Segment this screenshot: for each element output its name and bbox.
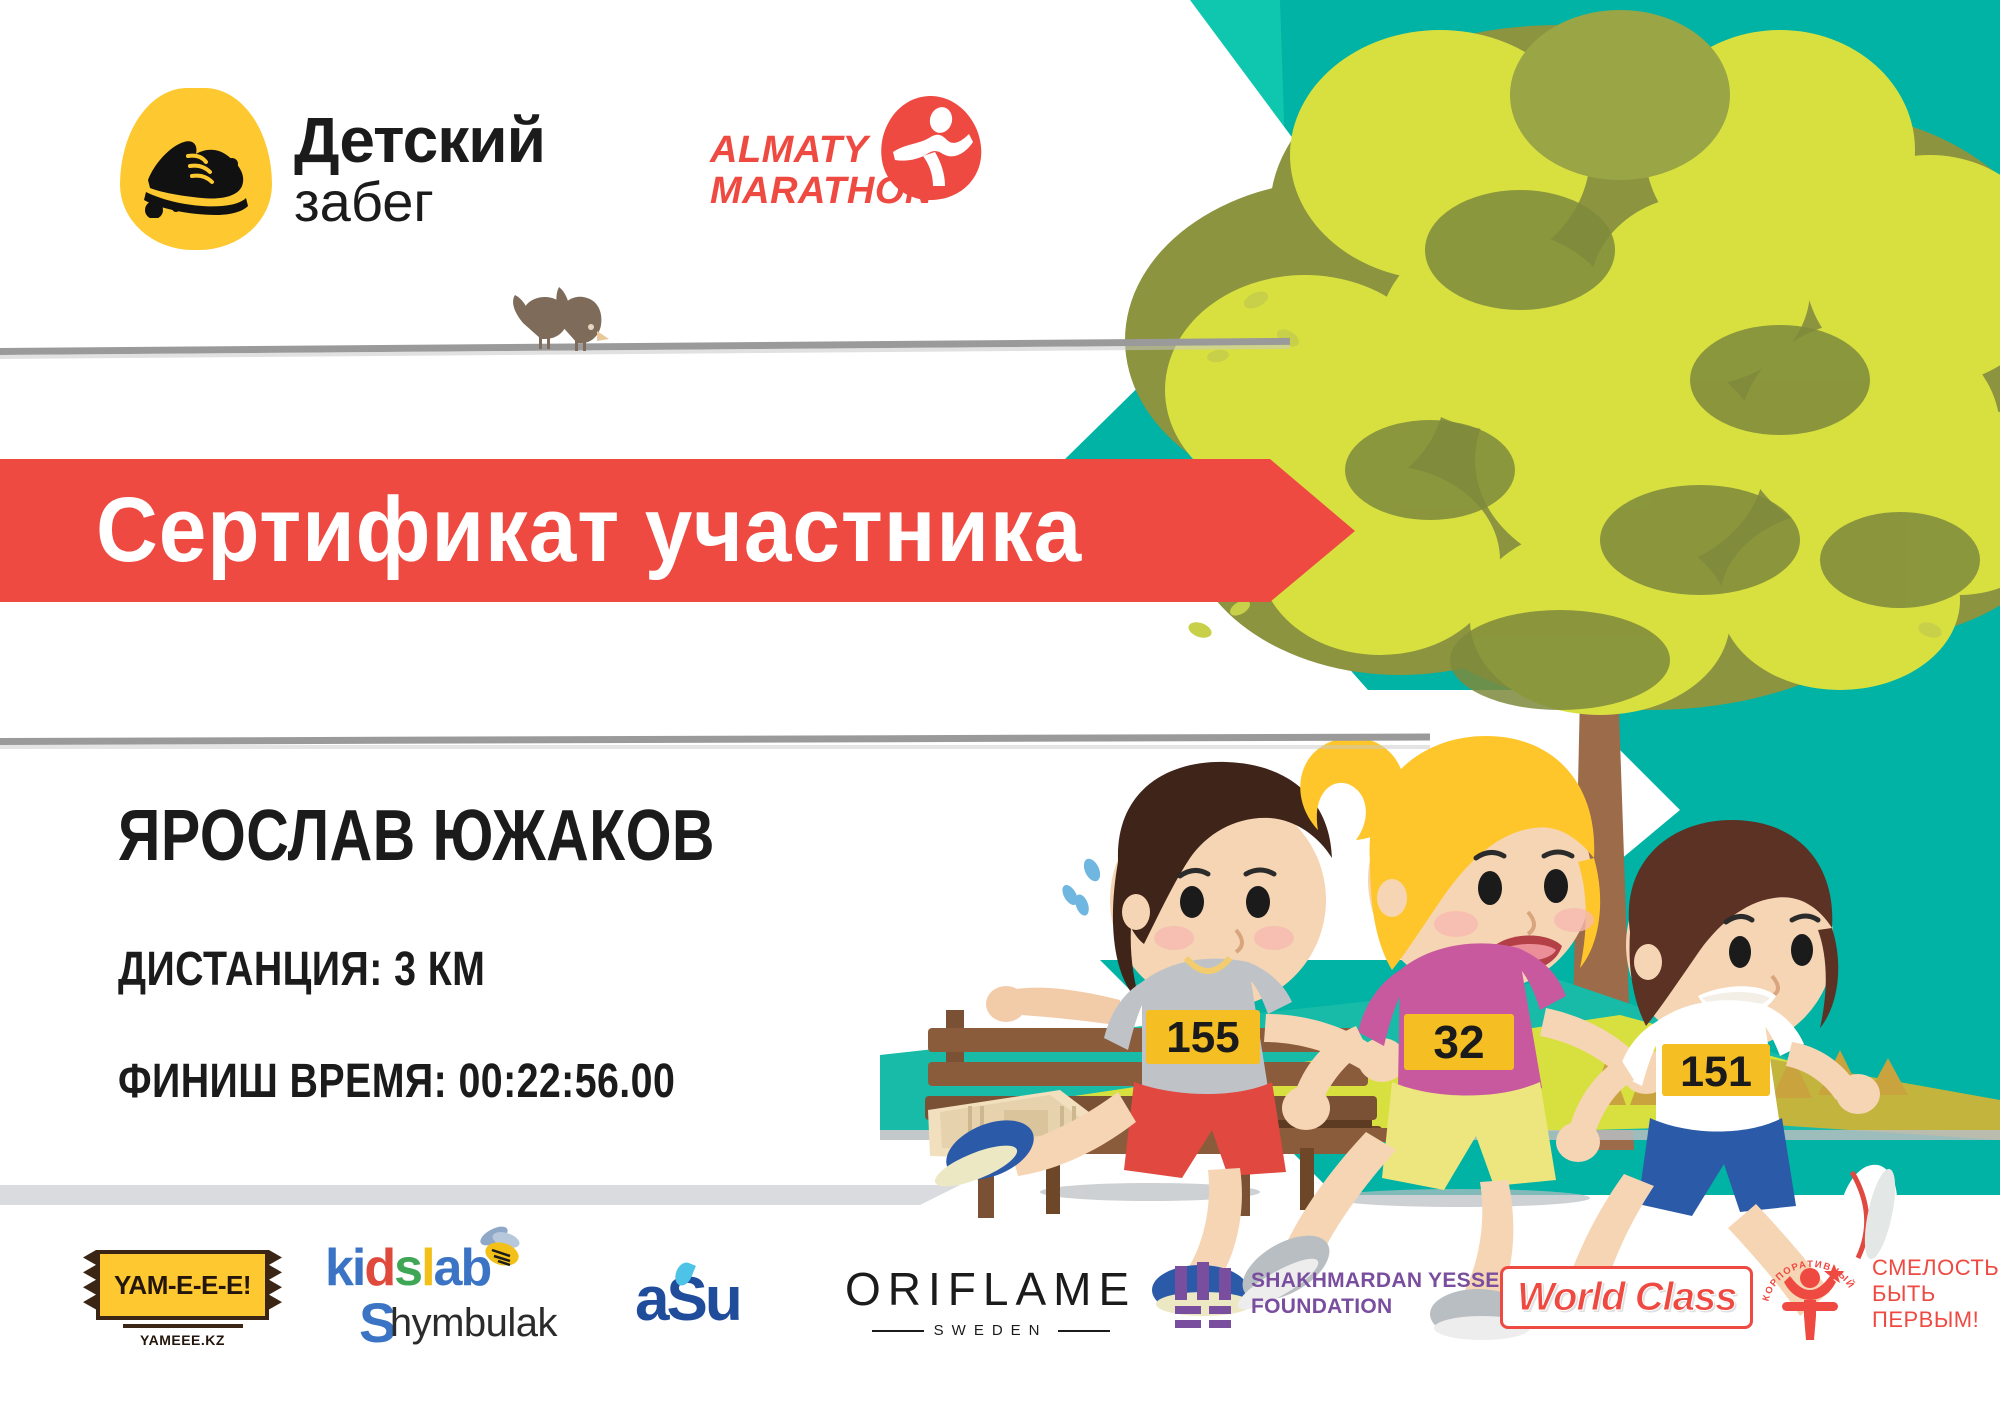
page-title: Сертификат участника: [96, 478, 1082, 583]
event-logo: Детский забег: [120, 88, 545, 250]
certificate-page: 155: [0, 0, 2000, 1413]
event-logo-line1: Детский: [294, 110, 545, 171]
participant-distance: ДИСТАНЦИЯ: 3 КМ: [118, 946, 715, 994]
sponsor-yessenov[interactable]: SHAKHMARDAN YESSENOV FOUNDATION: [1175, 1262, 1546, 1326]
sponsor-yameee-sub: YAMEEE.KZ: [140, 1332, 225, 1348]
svg-text:32: 32: [1433, 1016, 1484, 1068]
birds-on-wire: [505, 285, 645, 357]
almaty-marathon-runner-icon: [875, 90, 987, 210]
svg-text:151: 151: [1680, 1048, 1752, 1096]
sponsor-smelost-line2: БЫТЬ: [1872, 1281, 1999, 1307]
svg-text:155: 155: [1166, 1013, 1239, 1062]
sponsor-worldclass-box: World Class: [1500, 1266, 1753, 1329]
sponsor-kidslab-wordmark: kidslab: [325, 1242, 490, 1294]
candy-bar-icon: YAM-E-E-E!: [96, 1250, 269, 1320]
participant-name: ЯРОСЛАВ ЮЖАКОВ: [118, 800, 715, 872]
event-logo-line2: забег: [294, 175, 545, 228]
bird-right-icon: [556, 287, 609, 351]
participant-details: ЯРОСЛАВ ЮЖАКОВ ДИСТАНЦИЯ: 3 КМ ФИНИШ ВРЕ…: [118, 800, 846, 1106]
sponsor-smelost-wordmark: СМЕЛОСТЬ БЫТЬ ПЕРВЫМ!: [1872, 1255, 1999, 1333]
sponsor-asu-label: aSu: [635, 1264, 740, 1335]
sponsor-yameee[interactable]: YAM-E-E-E! YAMEEE.KZ: [96, 1250, 269, 1348]
sponsor-row: YAM-E-E-E! YAMEEE.KZ kidslab Shymbulak: [0, 1240, 2000, 1370]
sponsor-oriflame-sub: SWEDEN: [934, 1322, 1048, 1339]
running-shoe-icon: [120, 88, 272, 250]
ground-shadow-2: [0, 1185, 960, 1205]
certificate-title-banner: Сертификат участника: [0, 459, 1355, 602]
sponsor-asu[interactable]: aSu: [635, 1264, 740, 1335]
sponsor-yameee-rule: [123, 1324, 243, 1328]
sponsor-smelost[interactable]: КОРПОРАТИВНЫЙ ФОНД СМЕЛОСТЬ БЫТЬ ПЕРВЫМ!: [1760, 1242, 1999, 1346]
almaty-marathon-logo: ALMATY MARATHON: [710, 108, 970, 228]
sponsor-worldclass-label: World Class: [1517, 1275, 1736, 1319]
sponsor-worldclass[interactable]: World Class: [1500, 1266, 1753, 1329]
sponsor-oriflame[interactable]: ORIFLAME SWEDEN: [845, 1262, 1136, 1339]
sponsor-smelost-line3: ПЕРВЫМ!: [1872, 1307, 1999, 1333]
power-wire-middle-shadow: [0, 745, 1430, 749]
sponsor-kidslab[interactable]: kidslab Shymbulak: [325, 1242, 585, 1349]
sponsor-oriflame-label: ORIFLAME: [845, 1262, 1136, 1316]
sponsor-yameee-label: YAM-E-E-E!: [114, 1270, 251, 1301]
runner-shadow-2: [1330, 1189, 1590, 1207]
child-figure-icon: КОРПОРАТИВНЫЙ ФОНД: [1760, 1242, 1860, 1346]
sponsor-smelost-line1: СМЕЛОСТЬ: [1872, 1255, 1999, 1281]
bee-icon: [472, 1226, 524, 1270]
participant-finish-time: ФИНИШ ВРЕМЯ: 00:22:56.00: [118, 1058, 715, 1106]
event-logo-wordmark: Детский забег: [294, 110, 545, 228]
sponsor-oriflame-sub-row: SWEDEN: [872, 1322, 1110, 1339]
bar-chart-icon: [1175, 1262, 1233, 1326]
